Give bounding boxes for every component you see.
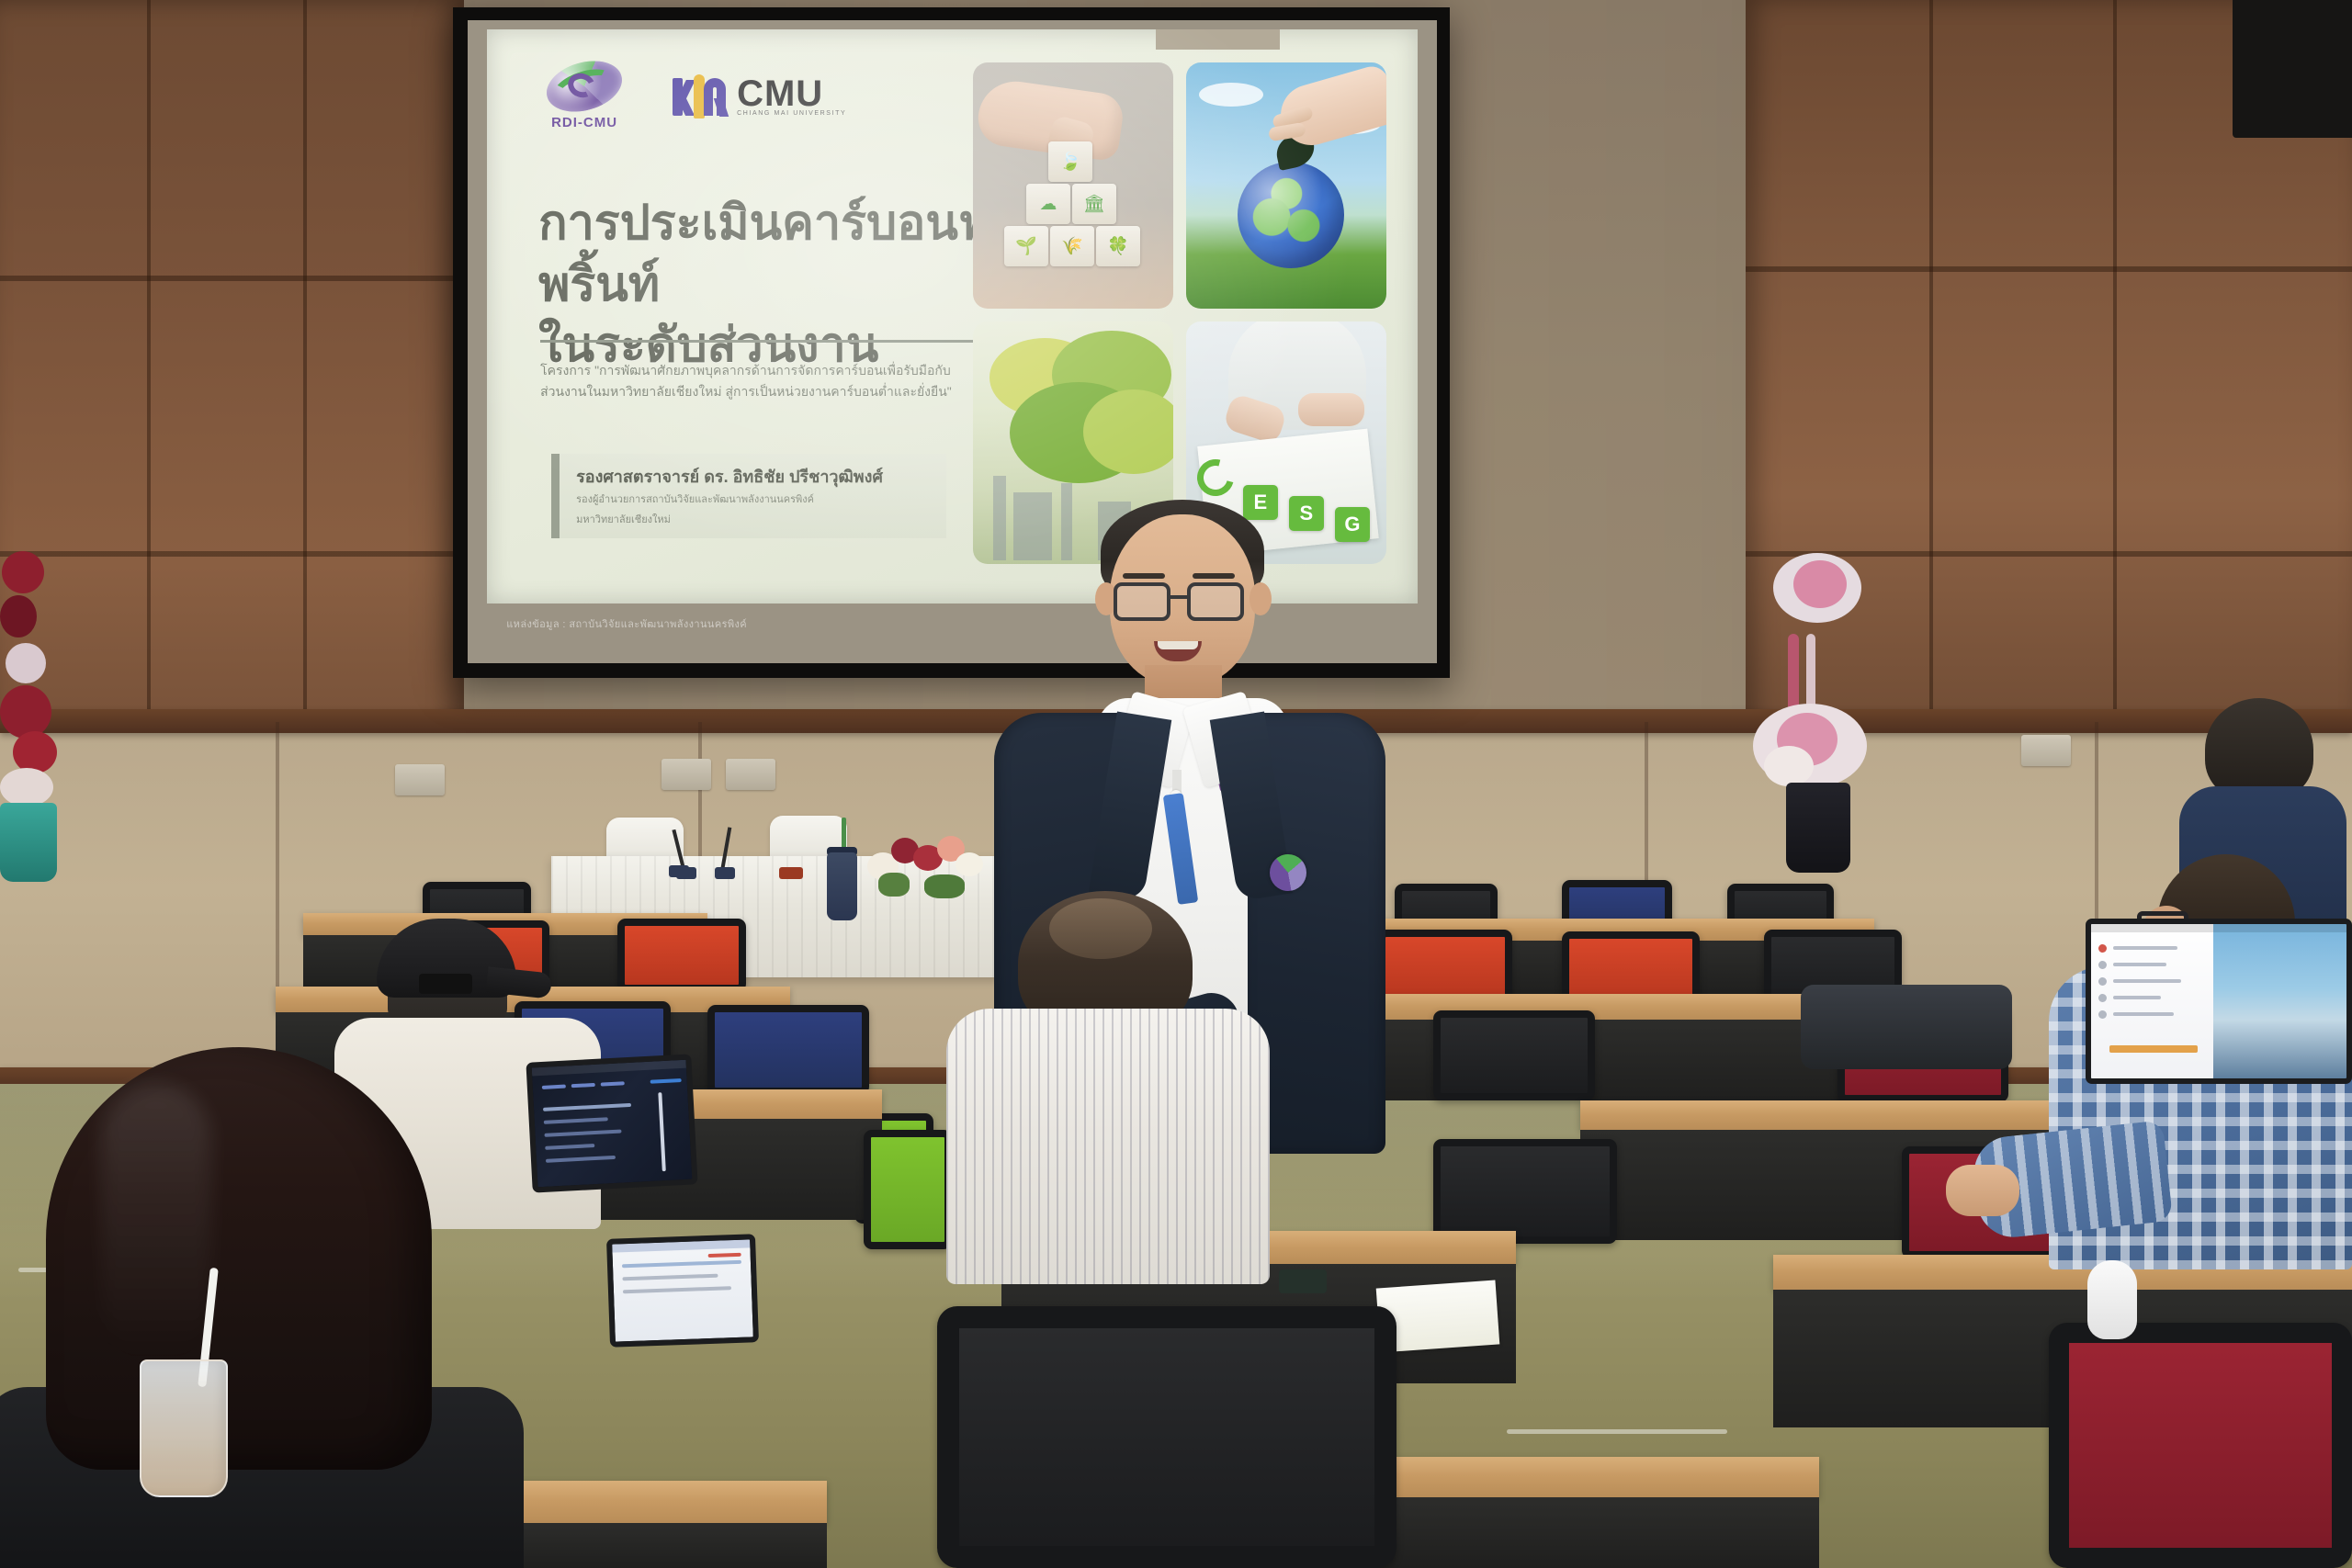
chair[interactable] — [617, 919, 746, 992]
rdi-cmu-logo-patch — [1270, 854, 1306, 891]
wall-outlet[interactable] — [2021, 735, 2071, 766]
seminar-room-photo: RDI-CMU CMU CHIANG MAI UNIVERSITY — [0, 0, 2352, 1568]
chair[interactable] — [1433, 1010, 1595, 1100]
attendee-center-seated — [946, 891, 1277, 1295]
cmu-wordmark: CMU — [737, 77, 846, 110]
slide-photo-grid: 🍃 ☁ 🏛 🌱 🌾 🍀 — [973, 62, 1386, 564]
teeth — [1158, 641, 1198, 649]
wood-seam — [147, 0, 151, 808]
attendee-long-hair — [46, 1047, 597, 1568]
eyeglasses-lens — [1187, 582, 1244, 621]
slide-notch — [1156, 29, 1280, 50]
wall-outlet[interactable] — [726, 759, 775, 790]
iced-drink-cup[interactable] — [140, 1359, 228, 1497]
speaker-role-line1: รองผู้อำนวยการสถาบันวิจัยและพัฒนาพลังงาน… — [576, 492, 930, 508]
hair-highlight — [101, 1084, 211, 1359]
eyeglasses-lens — [1114, 582, 1170, 621]
wood-seam — [303, 0, 307, 808]
wood-seam — [1746, 266, 2352, 272]
slide-logo-row: RDI-CMU CMU CHIANG MAI UNIVERSITY — [540, 62, 846, 130]
earth-globe-icon — [1238, 162, 1344, 268]
speaker-role-line2: มหาวิทยาลัยเชียงใหม่ — [576, 513, 930, 528]
rdi-cmu-logo-text: RDI-CMU — [540, 115, 628, 130]
globe-sapling-photo — [1186, 62, 1386, 309]
speaker-name: รองศาสตราจารย์ ดร. อิทธิชัย ปรีชาวุฒิพงศ… — [576, 467, 930, 488]
hand — [1946, 1165, 2019, 1216]
eco-block-plant-icon: 🌱 — [1004, 226, 1048, 266]
laptop-plaid-user[interactable] — [2086, 919, 2352, 1084]
hr-cmu-logo: CMU CHIANG MAI UNIVERSITY — [671, 74, 846, 118]
wood-seam — [2113, 0, 2117, 762]
eco-blocks-photo: 🍃 ☁ 🏛 🌱 🌾 🍀 — [973, 62, 1173, 309]
chair[interactable] — [864, 1130, 952, 1249]
wall-outlet[interactable] — [395, 764, 445, 795]
centerpiece-bouquet — [860, 834, 989, 898]
smartphone[interactable] — [1279, 1269, 1327, 1293]
pinstripe-pattern — [946, 1009, 1270, 1284]
eco-block-cloud-icon: ☁ — [1026, 184, 1070, 224]
wood-seam — [0, 551, 464, 557]
eyebrow — [1193, 573, 1235, 579]
chair[interactable] — [1433, 1139, 1617, 1244]
chair[interactable] — [707, 1005, 869, 1095]
eco-block-factory-icon: 🏛 — [1072, 184, 1116, 224]
cap-strap — [419, 974, 472, 994]
laptop-white-screen[interactable] — [606, 1234, 759, 1348]
eco-block-windmill-icon: 🌾 — [1050, 226, 1094, 266]
microphone-base — [715, 867, 735, 879]
chair[interactable] — [2049, 1323, 2352, 1568]
hand-illustration — [1298, 393, 1364, 426]
wall-outlet[interactable] — [661, 759, 711, 790]
rdi-cmu-logo: RDI-CMU — [540, 62, 628, 130]
eco-block-money-plant-icon: 🍀 — [1096, 226, 1140, 266]
floor-cable — [1507, 1429, 1727, 1434]
laptop-lid — [606, 1234, 759, 1348]
cmu-wordmark-subtext: CHIANG MAI UNIVERSITY — [737, 110, 846, 117]
laptop-lid — [2086, 919, 2352, 1084]
eyebrow — [1123, 573, 1165, 579]
cloud-shape — [1199, 83, 1263, 107]
computer-mouse[interactable] — [2087, 1260, 2137, 1339]
name-plate — [779, 867, 803, 879]
microphone-base — [669, 865, 689, 877]
hr-monogram-icon — [671, 74, 728, 118]
chair[interactable] — [937, 1306, 1396, 1568]
wood-seam — [1929, 0, 1933, 762]
wood-seam — [0, 276, 464, 281]
laptop-bag[interactable] — [1801, 985, 2012, 1069]
wall-speaker-panel — [2233, 0, 2352, 138]
eyeglasses-bridge — [1167, 595, 1187, 599]
ear — [1249, 582, 1272, 615]
wood-wall-panel-left — [0, 0, 464, 808]
eco-block-leaf-icon: 🍃 — [1048, 141, 1092, 182]
pinstripe-shirt — [946, 1009, 1270, 1284]
tumbler — [827, 852, 857, 920]
scalp — [1049, 898, 1152, 959]
slide-speaker-box: รองศาสตราจารย์ ดร. อิทธิชัย ปรีชาวุฒิพงศ… — [551, 454, 946, 538]
